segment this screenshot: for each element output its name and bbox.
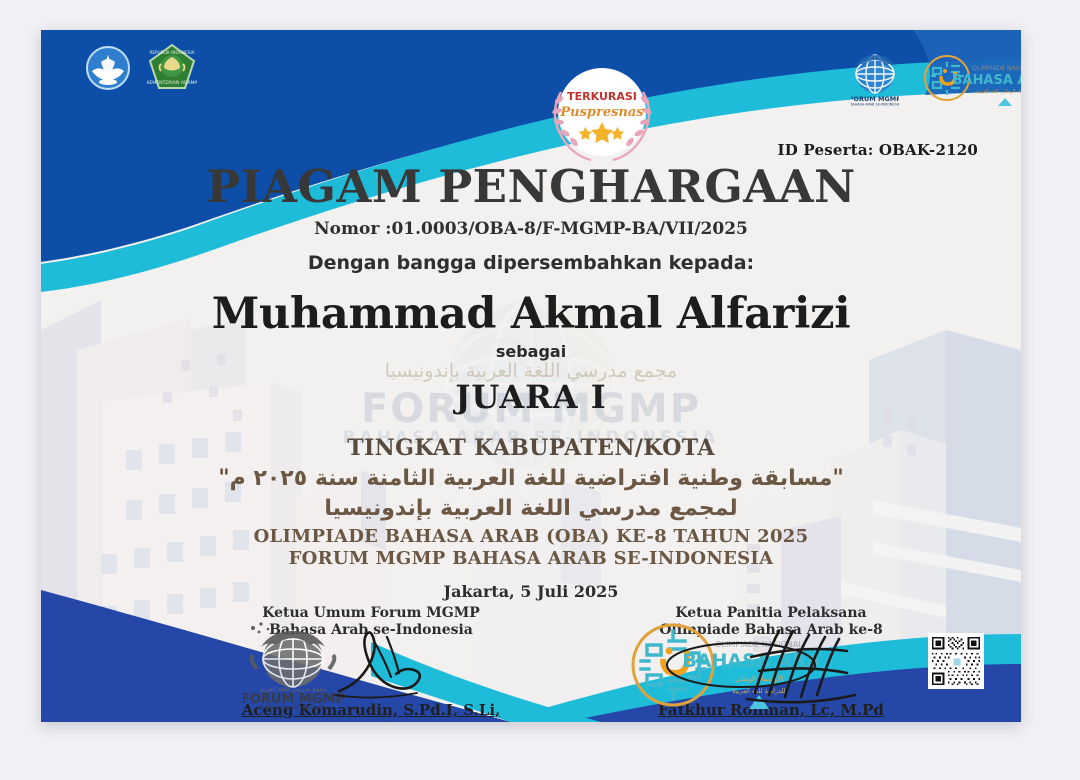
arabic-title-line-2: لمجمع مدرسي اللغة العربية بإندونيسيا [41,496,1021,521]
participant-id: ID Peserta: OBAK-2120 [778,141,978,159]
place-and-date: Jakarta, 5 Juli 2025 [41,582,1021,601]
svg-text:BAHASA ARAB SE-INDONESIA: BAHASA ARAB SE-INDONESIA [259,705,327,711]
verification-qr-code[interactable] [928,633,984,689]
svg-text:FORUM MGMP: FORUM MGMP [243,692,345,707]
signature-block-left: Ketua Umum Forum MGMP Bahasa Arab se-Ind… [221,605,521,722]
certificate-page: مجمع مدرسي اللغة العربية بإندونيسيا FORU… [0,0,1080,780]
award-rank: JUARA I [41,378,1021,416]
signature-scribble-right [741,613,871,705]
recipient-name: Muhammad Akmal Alfarizi [41,289,1021,339]
competition-level: TINGKAT KABUPATEN/KOTA [41,435,1021,461]
certificate-number: Nomor :01.0003/OBA-8/F-MGMP-BA/VII/2025 [41,219,1021,239]
signature-scribble-left [331,625,451,705]
event-line-2: FORUM MGMP BAHASA ARAB SE-INDONESIA [41,548,1021,569]
page-title: PIAGAM PENGHARGAAN [41,160,1021,213]
presented-to-label: Dengan bangga dipersembahkan kepada: [41,252,1021,274]
signature-block-right: Ketua Panitia Pelaksana Olimpiade Bahasa… [621,605,921,722]
certificate-sheet: مجمع مدرسي اللغة العربية بإندونيسيا FORU… [41,30,1021,722]
certificate-content: PIAGAM PENGHARGAAN Nomor :01.0003/OBA-8/… [41,30,1021,722]
event-line-1: OLIMPIADE BAHASA ARAB (OBA) KE-8 TAHUN 2… [41,526,1021,547]
arabic-title-line-1: "مسابقة وطنية افتراضية للغة العربية الثا… [41,466,1021,491]
as-label: sebagai [41,342,1021,361]
signatory-id: ID.180119850001120 [621,721,921,722]
